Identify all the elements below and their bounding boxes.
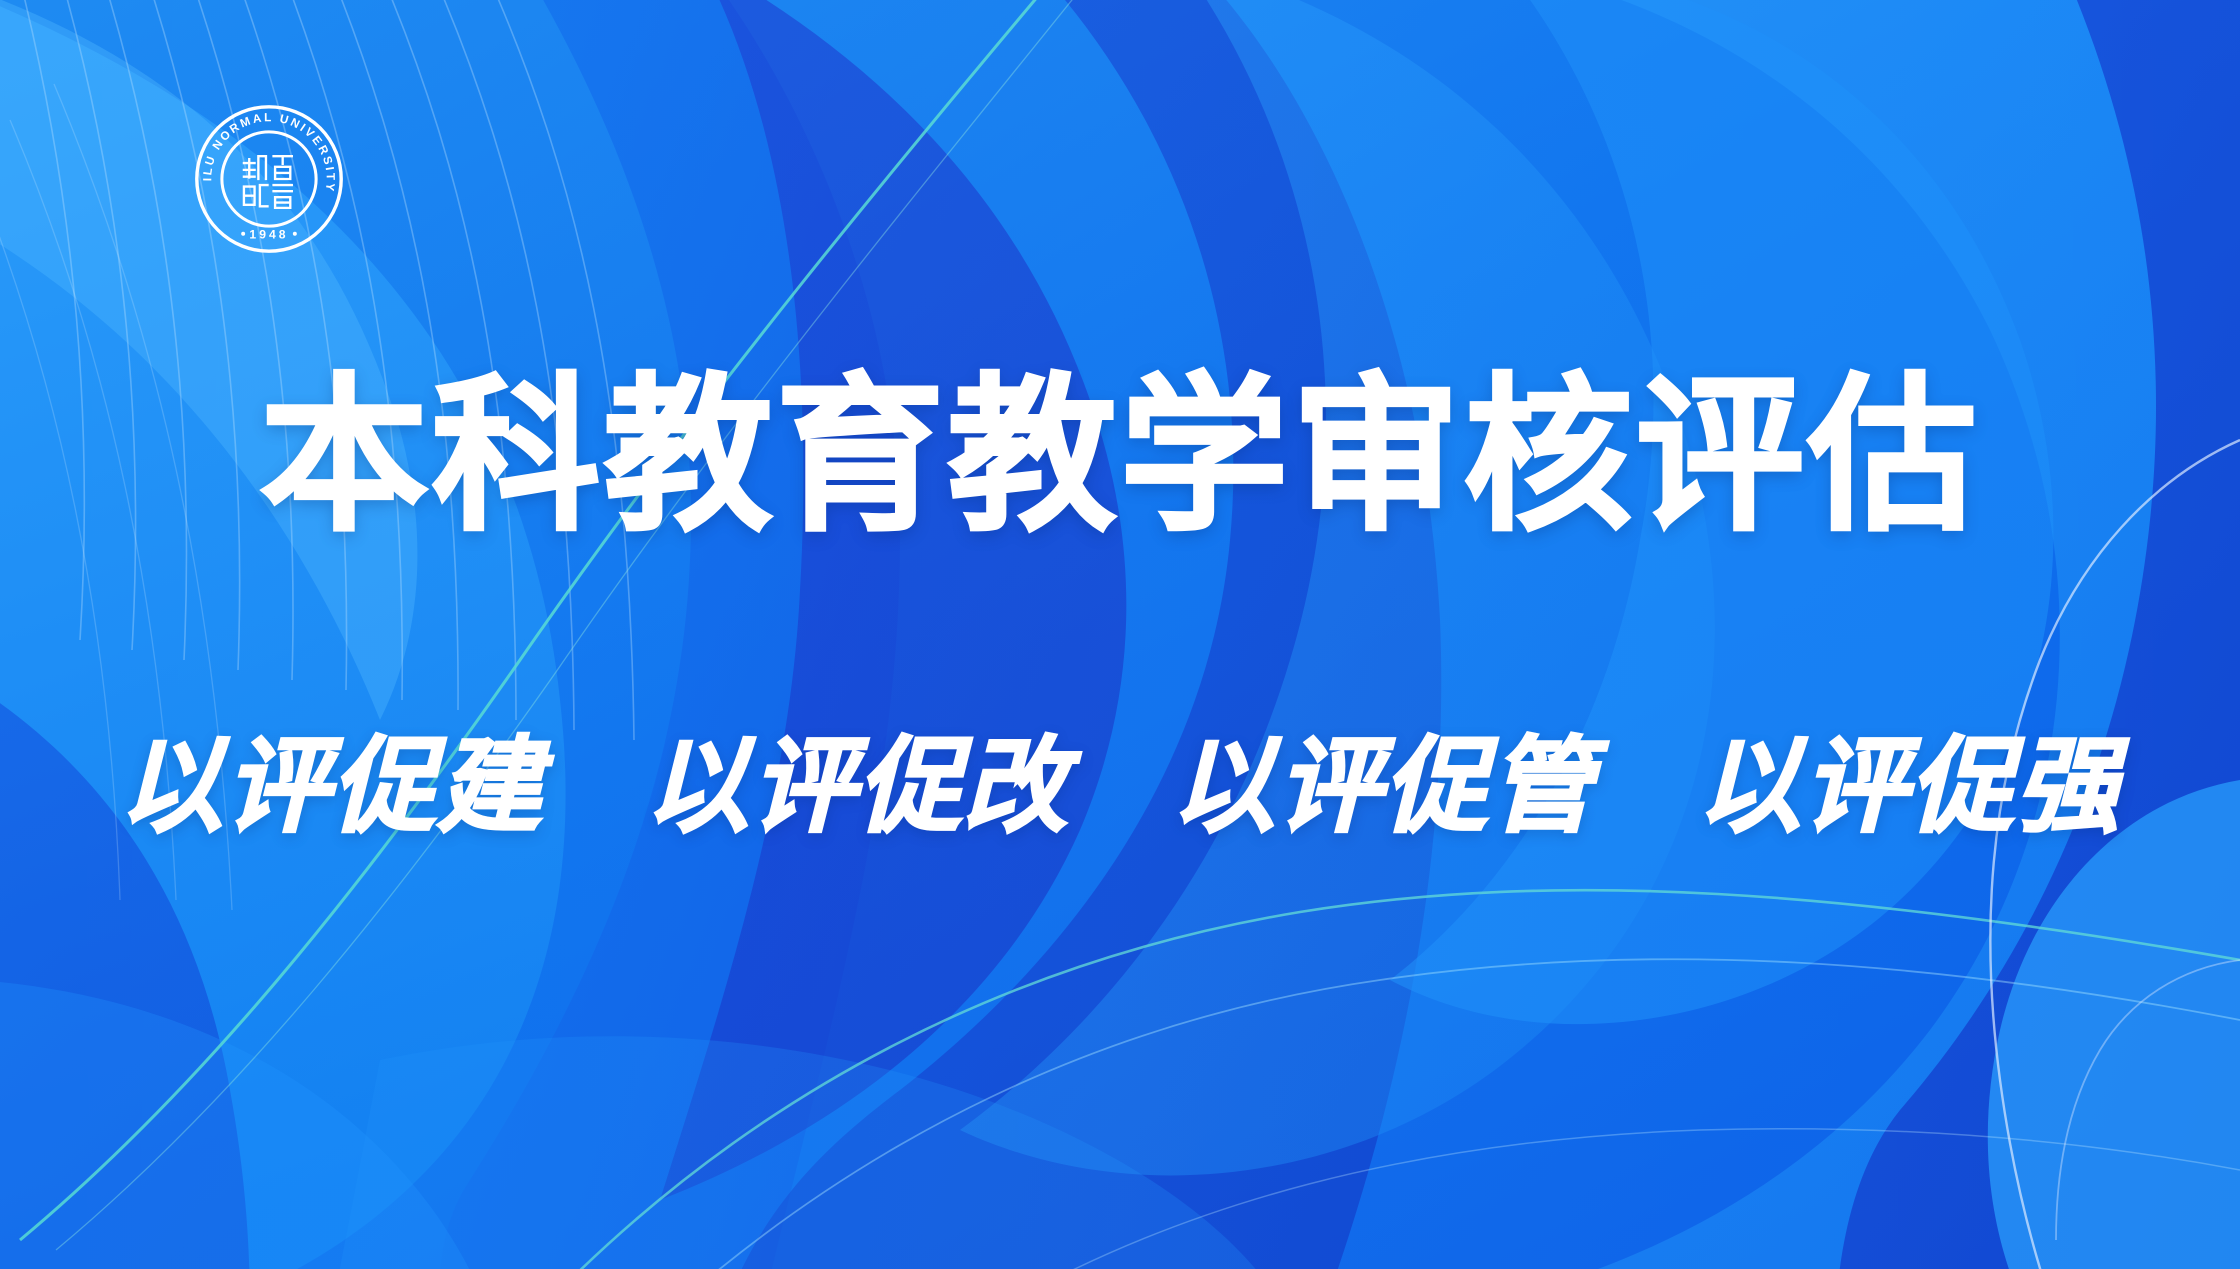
banner-poster: QILU NORMAL UNIVERSITY 1948	[0, 0, 2240, 1269]
seal-founding-year: 1948	[249, 227, 288, 241]
university-seal-logo: QILU NORMAL UNIVERSITY 1948	[193, 103, 345, 255]
